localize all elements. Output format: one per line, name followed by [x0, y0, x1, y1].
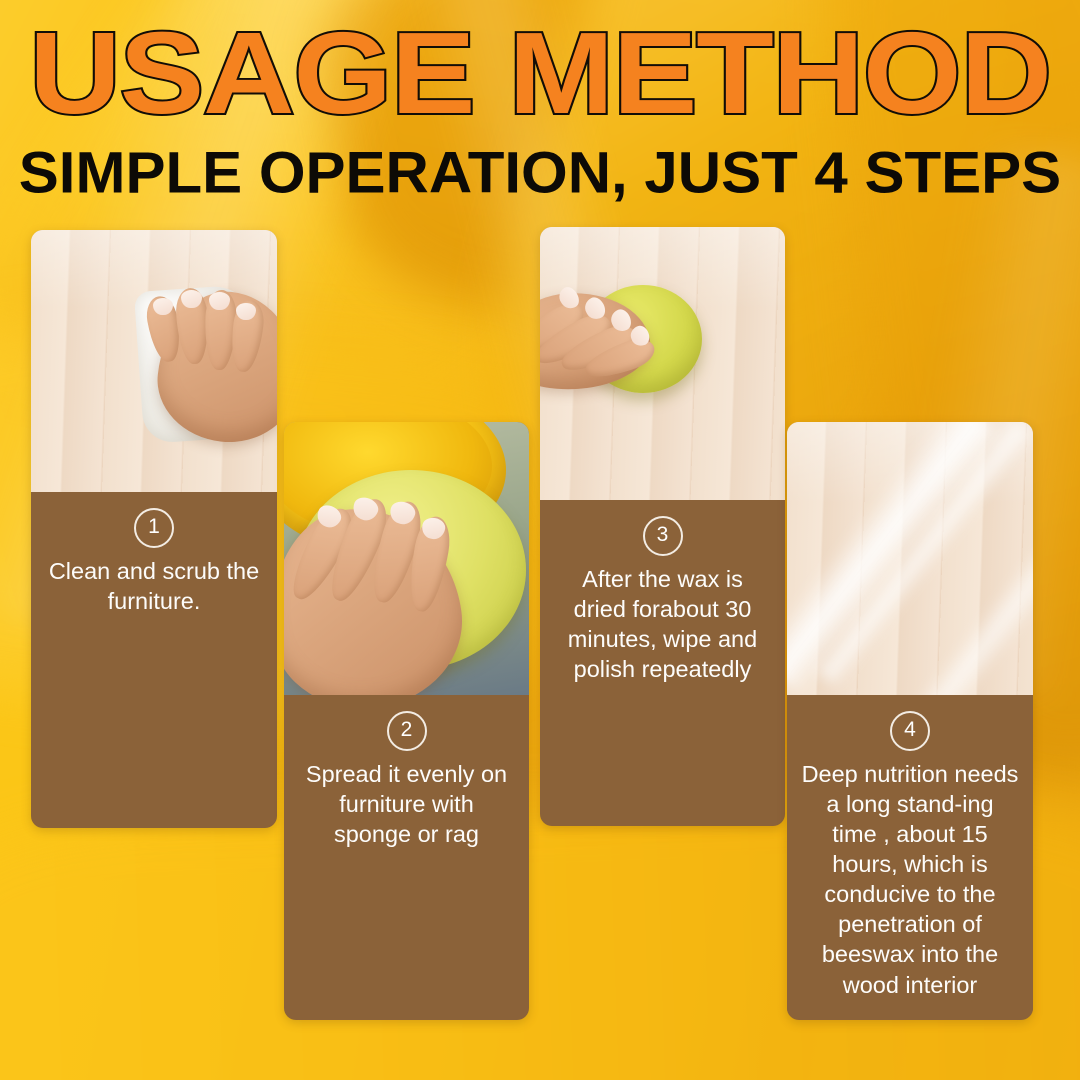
step-number-badge-3: 3 — [643, 516, 683, 556]
step-caption-3: After the wax is dried forabout 30 minut… — [550, 564, 775, 684]
step-3-photo — [540, 227, 785, 500]
page-title: USAGE METHOD — [0, 18, 1080, 132]
step-2-body: 2 Spread it evenly on furniture with spo… — [284, 695, 529, 865]
step-card-1[interactable]: 1 Clean and scrub the furniture. — [31, 230, 277, 828]
step-3-body: 3 After the wax is dried forabout 30 min… — [540, 500, 785, 700]
step-caption-4: Deep nutrition needs a long stand-ing ti… — [797, 759, 1023, 1000]
step-number-badge-4: 4 — [890, 711, 930, 751]
page-subtitle: SIMPLE OPERATION, JUST 4 STEPS — [0, 144, 1080, 202]
step-number-badge-2: 2 — [387, 711, 427, 751]
step-card-3[interactable]: 3 After the wax is dried forabout 30 min… — [540, 227, 785, 826]
step-4-body: 4 Deep nutrition needs a long stand-ing … — [787, 695, 1033, 1016]
step-card-2[interactable]: 2 Spread it evenly on furniture with spo… — [284, 422, 529, 1020]
step-1-photo — [31, 230, 277, 492]
step-card-4[interactable]: 4 Deep nutrition needs a long stand-ing … — [787, 422, 1033, 1020]
step-caption-2: Spread it evenly on furniture with spong… — [294, 759, 519, 849]
step-number-badge-1: 1 — [134, 508, 174, 548]
step-1-body: 1 Clean and scrub the furniture. — [31, 492, 277, 632]
header-block: USAGE METHOD SIMPLE OPERATION, JUST 4 ST… — [0, 18, 1080, 194]
step-2-photo — [284, 422, 529, 695]
step-caption-1: Clean and scrub the furniture. — [41, 556, 267, 616]
step-4-photo — [787, 422, 1033, 695]
